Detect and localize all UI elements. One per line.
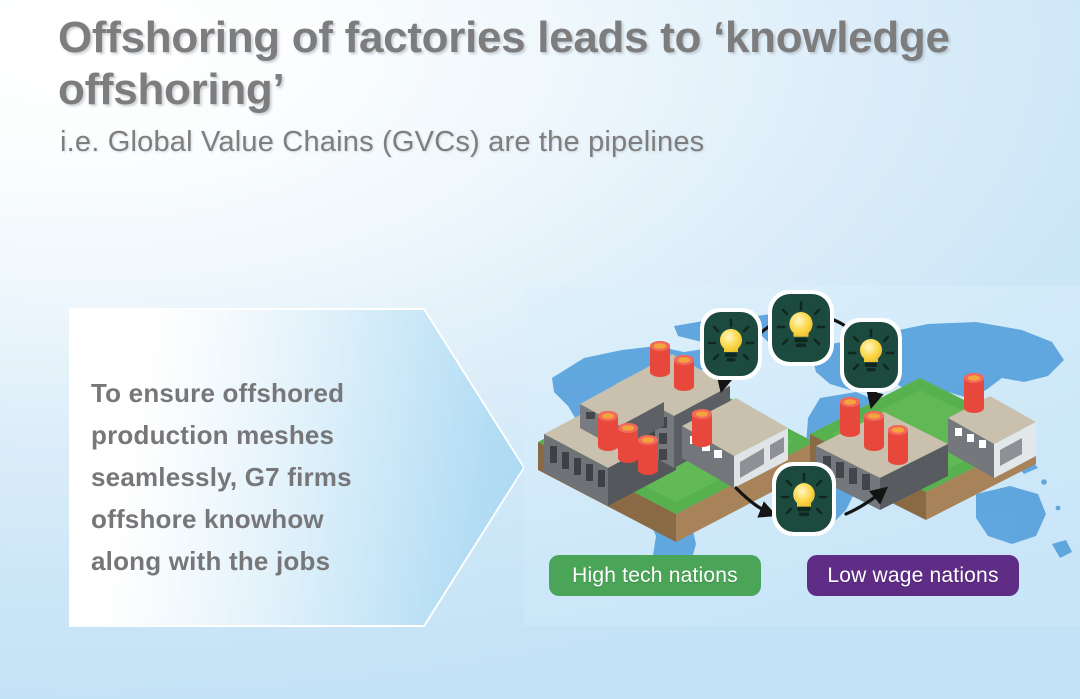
callout-chevron: To ensure offshored production meshes se… xyxy=(71,310,523,625)
callout-text: To ensure offshored production meshes se… xyxy=(91,372,421,583)
slide-canvas: Offshoring of factories leads to ‘knowle… xyxy=(0,0,1080,699)
bulb-icon-4 xyxy=(772,462,836,536)
page-title: Offshoring of factories leads to ‘knowle… xyxy=(58,12,1063,116)
page-subtitle: i.e. Global Value Chains (GVCs) are the … xyxy=(60,126,1063,159)
title-block: Offshoring of factories leads to ‘knowle… xyxy=(58,12,1063,159)
callout-line: seamlessly, G7 firms xyxy=(91,456,421,498)
callout-line: offshore knowhow xyxy=(91,498,421,540)
callout-line: production meshes xyxy=(91,414,421,456)
bulb-icon-2 xyxy=(768,290,834,366)
badge-low-wage-nations[interactable]: Low wage nations xyxy=(807,555,1019,596)
callout-line: along with the jobs xyxy=(91,540,421,582)
bulb-icon-3 xyxy=(840,318,902,392)
callout-line: To ensure offshored xyxy=(91,372,421,414)
bulb-icon-1 xyxy=(700,308,762,380)
badge-high-tech-nations[interactable]: High tech nations xyxy=(549,555,761,596)
